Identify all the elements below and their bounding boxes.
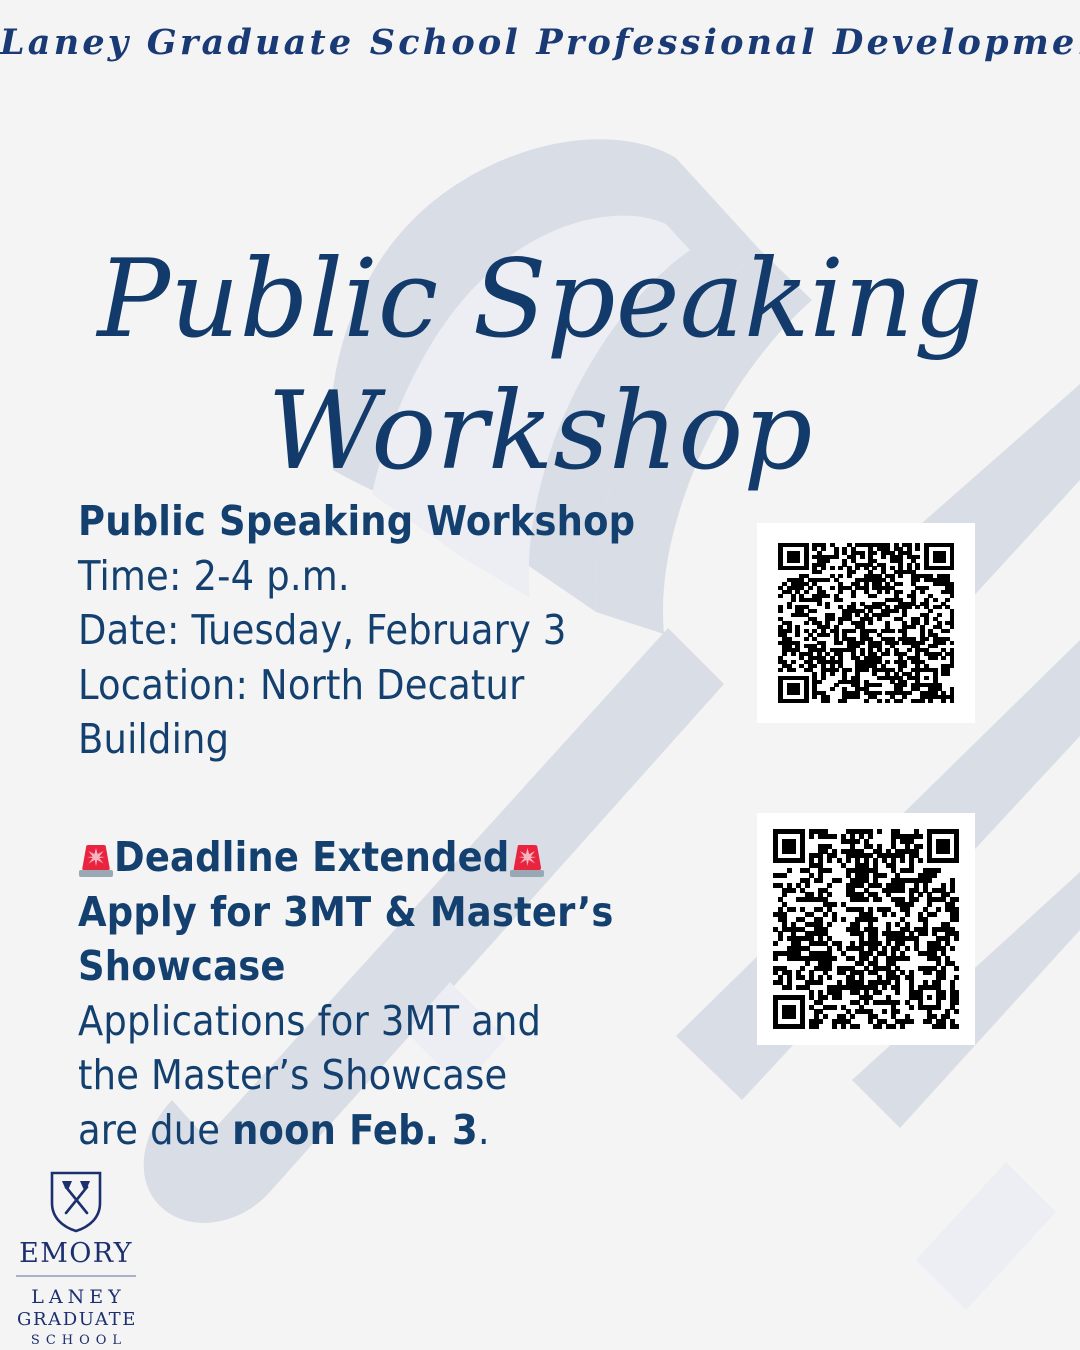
qr-code-apply-3mt-masters-showcase[interactable] [757,813,975,1045]
emory-shield-torches-icon [49,1170,103,1234]
event-heading: Public Speaking Workshop [78,494,758,549]
event-location-line-1: Location: North Decatur [78,658,758,713]
logo-school-word: SCHOOL [10,1332,142,1350]
qr-code-workshop-registration[interactable] [757,523,975,723]
deadline-body-line-3: are due noon Feb. 3. [78,1103,758,1158]
page-title-line-1: Public Speaking [0,234,1080,366]
event-date: Date: Tuesday, February 3 [78,603,758,658]
rotating-light-icon-right [510,843,544,877]
deadline-due-prefix: are due [78,1106,232,1154]
event-time: Time: 2-4 p.m. [78,549,758,604]
qr-code-image[interactable] [773,829,959,1029]
poster-canvas: Laney Graduate School Professional Devel… [0,0,1080,1350]
event-details-block: Public Speaking Workshop Time: 2-4 p.m. … [78,494,758,767]
deadline-headline-line-2: Showcase [78,939,758,994]
deadline-body-line-2: the Master’s Showcase [78,1048,758,1103]
deadline-due-suffix: . [478,1106,490,1154]
rotating-light-icon-left [79,843,113,877]
deadline-banner-label: Deadline Extended [114,833,509,881]
page-title: Public Speaking Workshop [0,234,1080,498]
deadline-block: Deadline Extended Apply for 3MT & Master… [78,830,758,1157]
deadline-banner: Deadline Extended [78,830,758,885]
page-title-line-2: Workshop [0,366,1080,498]
logo-divider [16,1275,136,1277]
qr-code-image[interactable] [778,543,954,703]
logo-graduate-word: GRADUATE [10,1308,142,1331]
deadline-body-line-1: Applications for 3MT and [78,994,758,1049]
emory-laney-graduate-school-logo: EMORY LANEY GRADUATE SCHOOL [10,1170,142,1350]
deadline-due-emphasis: noon Feb. 3 [232,1106,478,1154]
deadline-headline-line-1: Apply for 3MT & Master’s [78,885,758,940]
logo-emory-wordmark: EMORY [10,1240,142,1267]
event-location-line-2: Building [78,712,758,767]
page-eyebrow-title: Laney Graduate School Professional Devel… [0,22,1080,63]
logo-laney-word: LANEY [10,1286,142,1308]
